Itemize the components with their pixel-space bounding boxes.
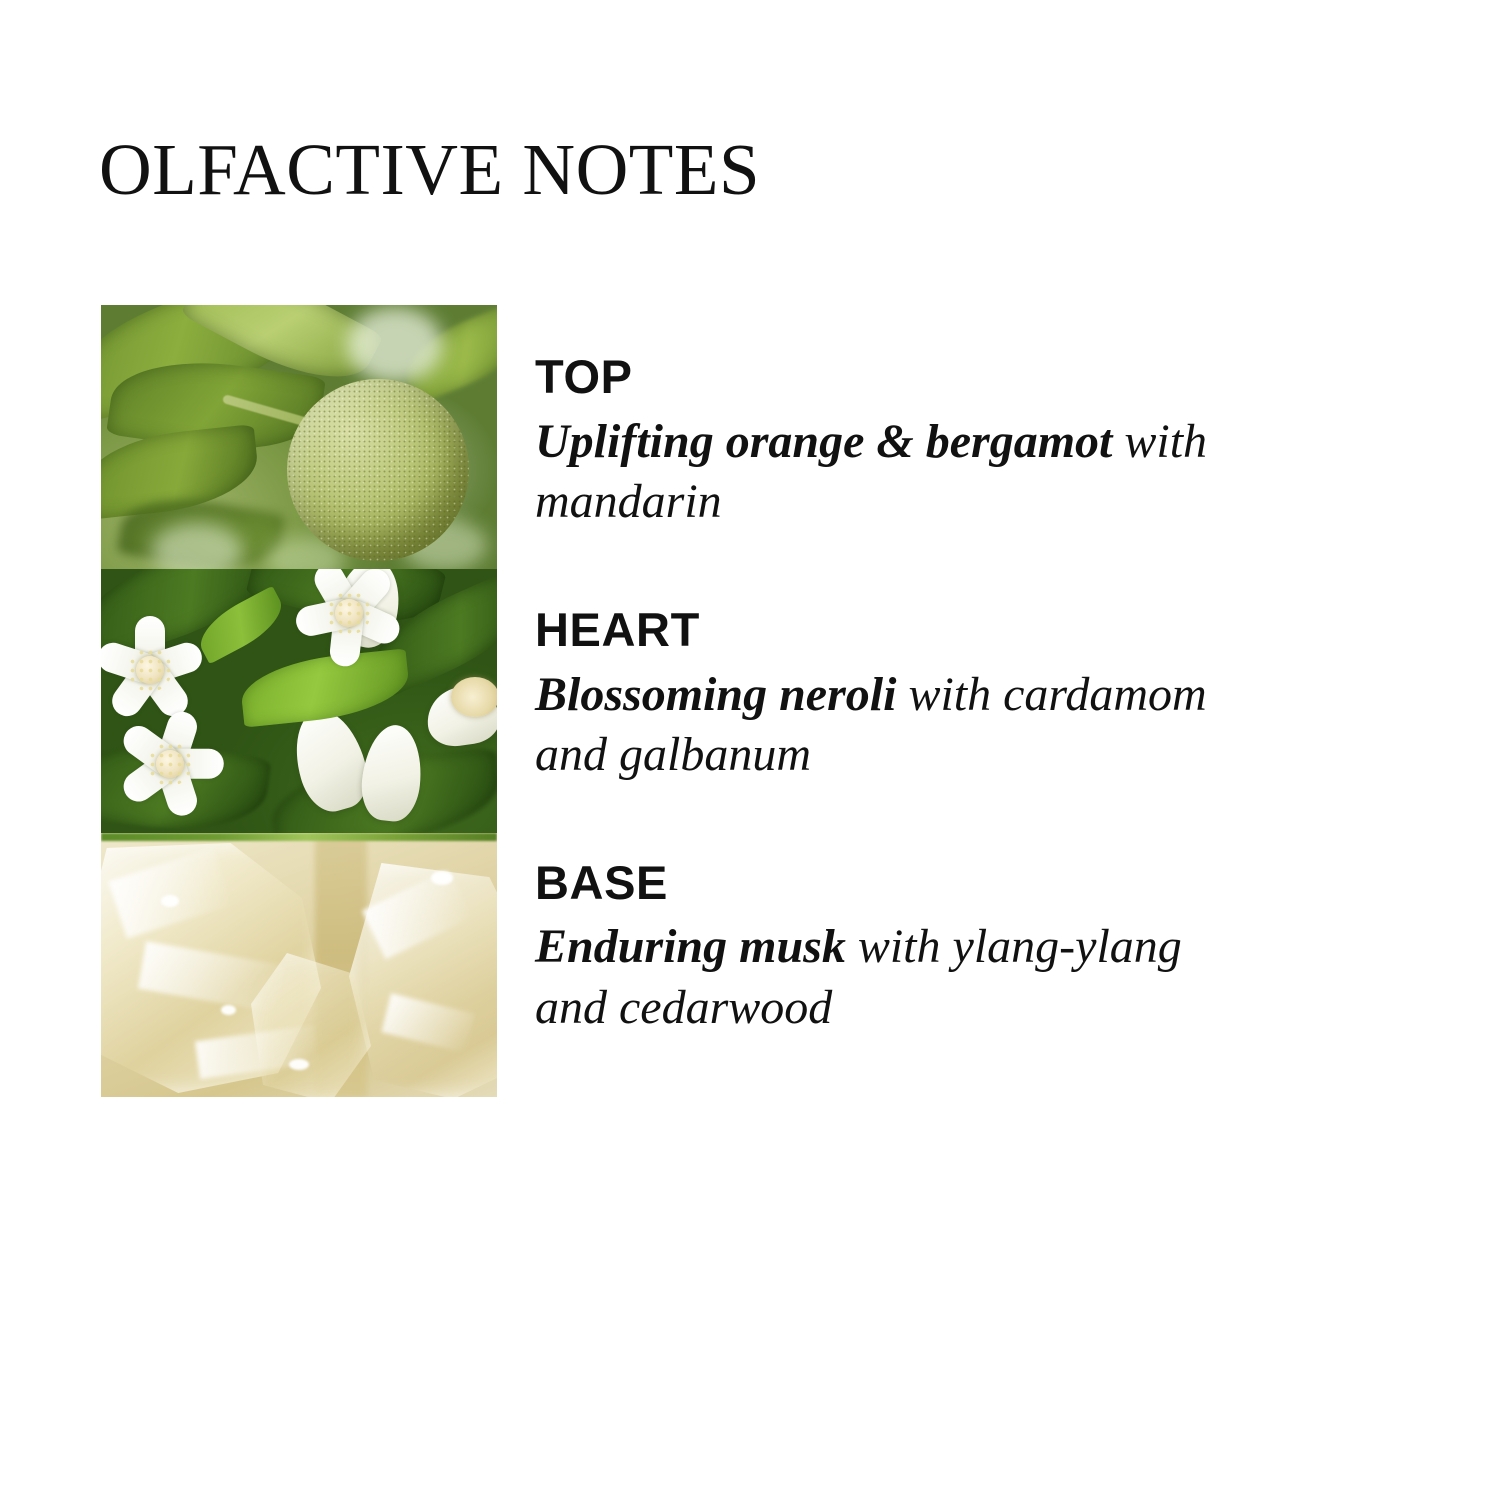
note-block-top: TOP Uplifting orange & bergamot with man… [535,352,1295,533]
note-label-top: TOP [535,352,1295,402]
note-emphasis-base: Enduring musk [535,920,846,973]
olfactive-notes-list: TOP Uplifting orange & bergamot with man… [535,352,1295,1038]
page-title: OLFACTIVE NOTES [99,133,760,206]
crystal-sparkle [221,1005,236,1015]
note-block-base: BASE Enduring musk with ylang-ylang and … [535,858,1295,1039]
note-description-top: Uplifting orange & bergamot with mandari… [535,412,1235,533]
orange-blossom-neroli-photo [101,569,497,833]
crystal-sparkle [289,1059,309,1070]
green-foliage-edge [101,833,497,841]
olfactive-notes-page: OLFACTIVE NOTES [0,0,1500,1500]
blossom-flower [301,569,397,661]
bokeh-highlight [347,307,443,383]
blossom-flower [115,709,225,819]
note-description-heart: Blossoming neroli with cardamom and galb… [535,665,1235,786]
flower-center [156,750,184,778]
crystal-sparkle [161,895,179,907]
note-photo-stack [101,305,497,1097]
note-label-heart: HEART [535,605,1295,655]
note-label-base: BASE [535,858,1295,908]
stamen-cluster [451,677,497,717]
note-emphasis-top: Uplifting orange & bergamot [535,415,1112,468]
note-emphasis-heart: Blossoming neroli [535,668,896,721]
flower-center [335,599,363,627]
green-citrus-fruit-photo [101,305,497,569]
pale-resin-crystals-photo [101,833,497,1097]
note-block-heart: HEART Blossoming neroli with cardamom an… [535,605,1295,786]
flower-center [136,656,164,684]
crystal-sparkle [431,871,453,885]
citrus-fruit [287,379,469,561]
note-description-base: Enduring musk with ylang-ylang and cedar… [535,917,1235,1038]
